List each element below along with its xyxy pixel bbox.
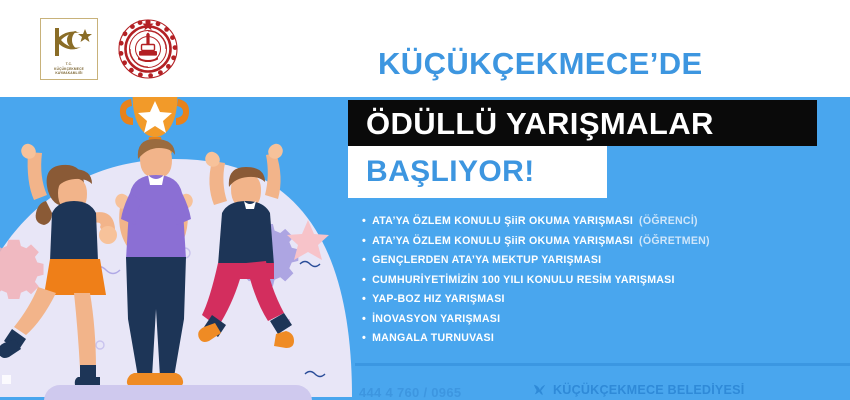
competition-list: • ATA’YA ÖZLEM KONULU ŞiiR OKUMA YARIŞMA… [362, 212, 842, 349]
list-item-note: (ÖĞRETMEN) [639, 232, 710, 252]
bullet-dot-icon: • [362, 212, 366, 232]
celebration-illustration [0, 97, 352, 400]
belediye-bird-icon [533, 383, 547, 397]
list-item-label: ATA’YA ÖZLEM KONULU ŞiiR OKUMA YARIŞMASI [372, 232, 633, 252]
kaymakamlik-logo: T.C. KÜÇÜKÇEKMECE KAYMAKAMLIĞI [40, 18, 98, 80]
bottom-bar [44, 385, 312, 400]
list-item-label: ATA’YA ÖZLEM KONULU ŞiiR OKUMA YARIŞMASI [372, 212, 633, 232]
list-item: • İNOVASYON YARIŞMASI [362, 310, 842, 330]
headline-line-1: KÜÇÜKÇEKMECE’DE [378, 48, 703, 80]
kaymakamlik-emblem-icon [47, 25, 93, 59]
headline-line-2: ÖDÜLLÜ YARIŞMALAR [366, 107, 714, 140]
list-item: • GENÇLERDEN ATA’YA MEKTUP YARIŞMASI [362, 251, 842, 271]
bullet-dot-icon: • [362, 310, 366, 330]
logo-group: T.C. KÜÇÜKÇEKMECE KAYMAKAMLIĞI [40, 18, 178, 80]
belediye-name: KÜÇÜKÇEKMECE BELEDİYESİ [553, 383, 744, 397]
list-item: • MANGALA TURNUVASI [362, 329, 842, 349]
list-item: • YAP-BOZ HIZ YARIŞMASI [362, 290, 842, 310]
list-item-label: YAP-BOZ HIZ YARIŞMASI [372, 290, 505, 310]
list-item: • CUMHURİYETİMİZİN 100 YILI KONULU RESİM… [362, 271, 842, 291]
headline-line-3: BAŞLIYOR! [366, 156, 535, 188]
headline-top-panel: KÜÇÜKÇEKMECE’DE [348, 0, 850, 97]
bullet-dot-icon: • [362, 290, 366, 310]
poster: T.C. KÜÇÜKÇEKMECE KAYMAKAMLIĞI [0, 0, 850, 400]
illustration-svg [0, 97, 352, 400]
bullet-dot-icon: • [362, 271, 366, 291]
bullet-dot-icon: • [362, 329, 366, 349]
meb-seal-icon [118, 19, 178, 79]
list-item-note: (ÖĞRENCİ) [639, 212, 698, 232]
footer-divider [355, 363, 850, 366]
list-item: • ATA’YA ÖZLEM KONULU ŞiiR OKUMA YARIŞMA… [362, 232, 842, 252]
belediye-logo: KÜÇÜKÇEKMECE BELEDİYESİ [533, 383, 744, 397]
bullet-dot-icon: • [362, 251, 366, 271]
list-item: • ATA’YA ÖZLEM KONULU ŞiiR OKUMA YARIŞMA… [362, 212, 842, 232]
bullet-dot-icon: • [362, 232, 366, 252]
list-item-label: İNOVASYON YARIŞMASI [372, 310, 500, 330]
headline-black-band: ÖDÜLLÜ YARIŞMALAR [348, 100, 817, 146]
meb-seal-logo [118, 19, 178, 79]
headline-bottom-panel: BAŞLIYOR! [348, 146, 607, 198]
list-item-label: CUMHURİYETİMİZİN 100 YILI KONULU RESİM Y… [372, 271, 675, 291]
list-item-label: MANGALA TURNUVASI [372, 329, 494, 349]
phone-number: 444 4 760 / 0965 [359, 385, 461, 400]
kaymakamlik-logo-line3: KAYMAKAMLIĞI [43, 71, 95, 75]
list-item-label: GENÇLERDEN ATA’YA MEKTUP YARIŞMASI [372, 251, 601, 271]
